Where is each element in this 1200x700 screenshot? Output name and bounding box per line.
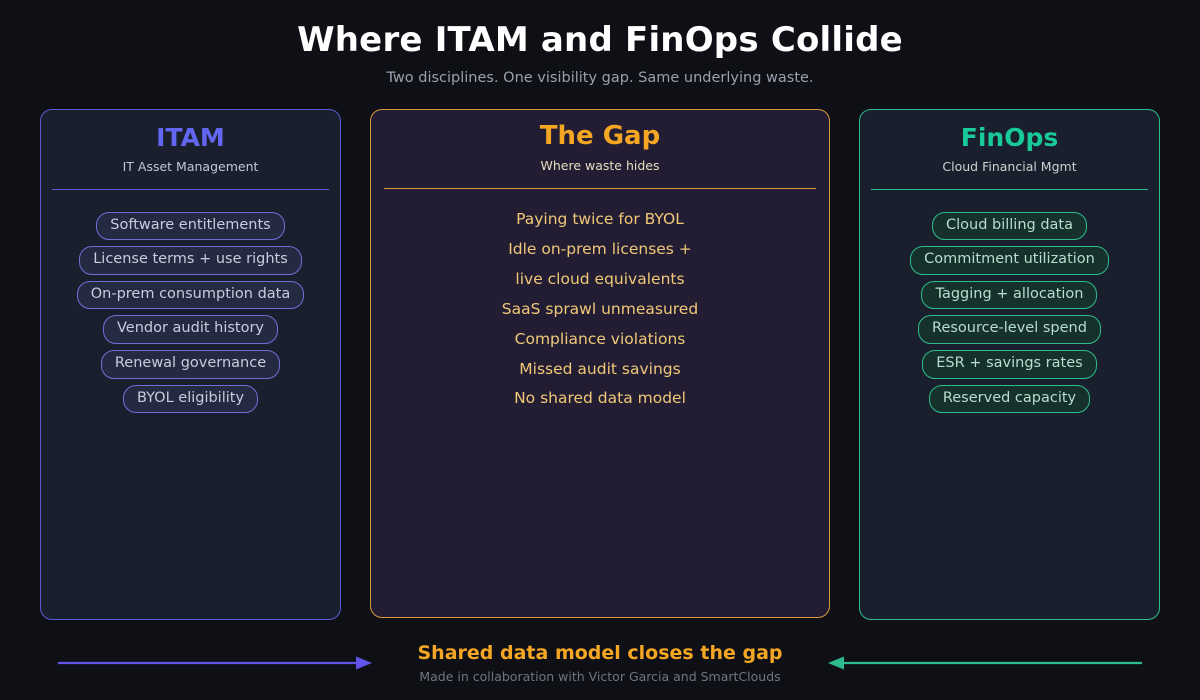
gap-item: Compliance violations	[515, 329, 686, 350]
chip-item[interactable]: Software entitlements	[96, 212, 284, 241]
page-subtitle: Two disciplines. One visibility gap. Sam…	[0, 70, 1200, 86]
page-header: Where ITAM and FinOps Collide Two discip…	[0, 0, 1200, 86]
chip-item[interactable]: Vendor audit history	[103, 315, 278, 344]
panel-itam-chip-list: Software entitlements License terms + us…	[77, 212, 305, 413]
gap-item: Missed audit savings	[519, 359, 680, 380]
chip-item[interactable]: On-prem consumption data	[77, 281, 305, 310]
gap-item: No shared data model	[514, 388, 686, 409]
gap-item: SaaS sprawl unmeasured	[502, 299, 698, 320]
footer-credit: Made in collaboration with Victor Garcia…	[0, 669, 1200, 684]
panel-itam: ITAM IT Asset Management Software entitl…	[40, 109, 341, 620]
panel-gap-item-list: Paying twice for BYOL Idle on-prem licen…	[502, 209, 698, 409]
gap-item: live cloud equivalents	[515, 269, 684, 290]
panel-finops-divider	[871, 189, 1148, 190]
chip-item[interactable]: Tagging + allocation	[921, 281, 1097, 310]
footer-center-row: Shared data model closes the gap Made in…	[0, 643, 1200, 683]
page-title: Where ITAM and FinOps Collide	[0, 22, 1200, 59]
panel-gap: The Gap Where waste hides Paying twice f…	[370, 109, 830, 618]
chip-item[interactable]: ESR + savings rates	[922, 350, 1096, 379]
chip-item[interactable]: Cloud billing data	[932, 212, 1087, 241]
chip-item[interactable]: Renewal governance	[101, 350, 280, 379]
page-footer: Shared data model closes the gap Made in…	[0, 643, 1200, 700]
panel-finops: FinOps Cloud Financial Mgmt Cloud billin…	[859, 109, 1160, 620]
gap-item: Paying twice for BYOL	[516, 209, 684, 230]
chip-item[interactable]: Reserved capacity	[929, 385, 1090, 414]
panel-itam-divider	[52, 189, 329, 190]
panel-gap-title: The Gap	[540, 122, 660, 152]
panel-gap-subtitle: Where waste hides	[541, 158, 660, 173]
panel-finops-subtitle: Cloud Financial Mgmt	[942, 159, 1076, 174]
panel-itam-title: ITAM	[156, 124, 225, 153]
panel-itam-subtitle: IT Asset Management	[123, 159, 259, 174]
chip-item[interactable]: Resource-level spend	[918, 315, 1101, 344]
chip-item[interactable]: Commitment utilization	[910, 246, 1109, 275]
gap-item: Idle on-prem licenses +	[508, 239, 692, 260]
footer-text-block: Shared data model closes the gap Made in…	[0, 642, 1200, 685]
panel-finops-title: FinOps	[961, 124, 1058, 153]
chip-item[interactable]: BYOL eligibility	[123, 385, 258, 414]
footer-headline: Shared data model closes the gap	[0, 642, 1200, 665]
panel-gap-divider	[384, 188, 816, 189]
panel-finops-chip-list: Cloud billing data Commitment utilizatio…	[910, 212, 1109, 413]
panel-columns: ITAM IT Asset Management Software entitl…	[40, 109, 1160, 620]
chip-item[interactable]: License terms + use rights	[79, 246, 302, 275]
